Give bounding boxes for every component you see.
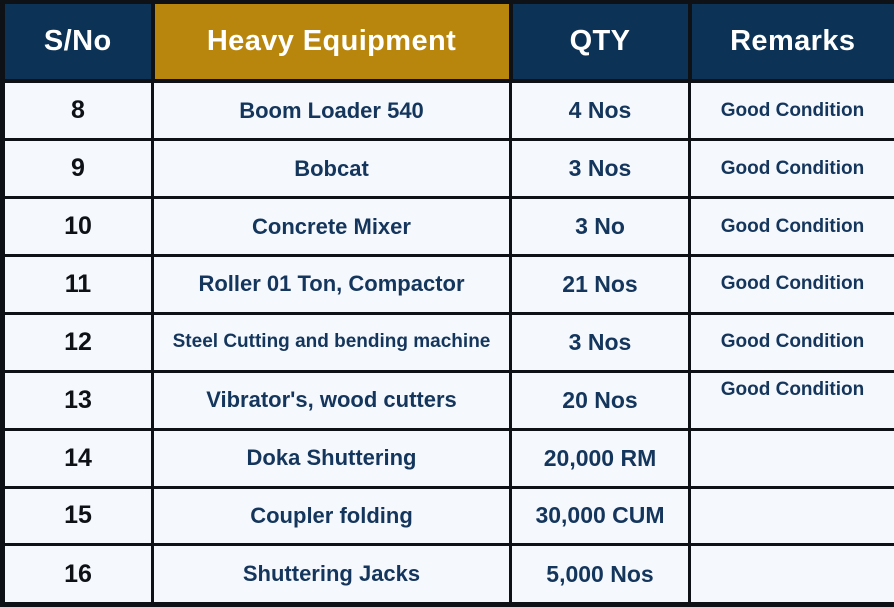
cell-equipment: Concrete Mixer [153, 198, 511, 256]
cell-qty: 5,000 Nos [511, 545, 690, 605]
cell-sno: 8 [3, 81, 153, 140]
cell-qty: 3 No [511, 198, 690, 256]
cell-remarks [690, 487, 894, 545]
column-header-qty: QTY [511, 2, 690, 81]
cell-equipment: Steel Cutting and bending machine [153, 313, 511, 371]
header-row: S/No Heavy Equipment QTY Remarks [3, 2, 894, 81]
cell-qty: 20 Nos [511, 371, 690, 429]
cell-remarks: Good Condition [690, 81, 894, 140]
cell-qty: 21 Nos [511, 255, 690, 313]
cell-qty: 4 Nos [511, 81, 690, 140]
cell-equipment: Bobcat [153, 140, 511, 198]
cell-equipment: Coupler folding [153, 487, 511, 545]
column-header-remarks: Remarks [690, 2, 894, 81]
table-row: 8 Boom Loader 540 4 Nos Good Condition [3, 81, 894, 140]
cell-sno: 14 [3, 429, 153, 487]
cell-sno: 9 [3, 140, 153, 198]
table-row: 16 Shuttering Jacks 5,000 Nos [3, 545, 894, 605]
cell-qty: 3 Nos [511, 140, 690, 198]
cell-remarks: Good Condition [690, 255, 894, 313]
table-row: 14 Doka Shuttering 20,000 RM [3, 429, 894, 487]
cell-equipment: Shuttering Jacks [153, 545, 511, 605]
cell-remarks: Good Condition [690, 198, 894, 256]
cell-equipment: Boom Loader 540 [153, 81, 511, 140]
cell-sno: 12 [3, 313, 153, 371]
table-header: S/No Heavy Equipment QTY Remarks [3, 2, 894, 81]
column-header-equipment: Heavy Equipment [153, 2, 511, 81]
cell-equipment: Vibrator's, wood cutters [153, 371, 511, 429]
cell-sno: 16 [3, 545, 153, 605]
cell-qty: 30,000 CUM [511, 487, 690, 545]
table-row: 10 Concrete Mixer 3 No Good Condition [3, 198, 894, 256]
cell-qty: 20,000 RM [511, 429, 690, 487]
column-header-sno: S/No [3, 2, 153, 81]
cell-remarks: Good Condition [690, 313, 894, 371]
table-row: 12 Steel Cutting and bending machine 3 N… [3, 313, 894, 371]
cell-qty: 3 Nos [511, 313, 690, 371]
cell-remarks: Good Condition [690, 371, 894, 429]
table-row: 9 Bobcat 3 Nos Good Condition [3, 140, 894, 198]
table-body: 8 Boom Loader 540 4 Nos Good Condition 9… [3, 81, 894, 605]
cell-remarks: Good Condition [690, 140, 894, 198]
cell-sno: 13 [3, 371, 153, 429]
table-row: 15 Coupler folding 30,000 CUM [3, 487, 894, 545]
cell-sno: 10 [3, 198, 153, 256]
cell-remarks [690, 429, 894, 487]
cell-sno: 15 [3, 487, 153, 545]
table-row: 13 Vibrator's, wood cutters 20 Nos Good … [3, 371, 894, 429]
table-row: 11 Roller 01 Ton, Compactor 21 Nos Good … [3, 255, 894, 313]
heavy-equipment-table: S/No Heavy Equipment QTY Remarks 8 Boom … [0, 0, 894, 607]
cell-remarks [690, 545, 894, 605]
cell-equipment: Doka Shuttering [153, 429, 511, 487]
cell-sno: 11 [3, 255, 153, 313]
cell-equipment: Roller 01 Ton, Compactor [153, 255, 511, 313]
